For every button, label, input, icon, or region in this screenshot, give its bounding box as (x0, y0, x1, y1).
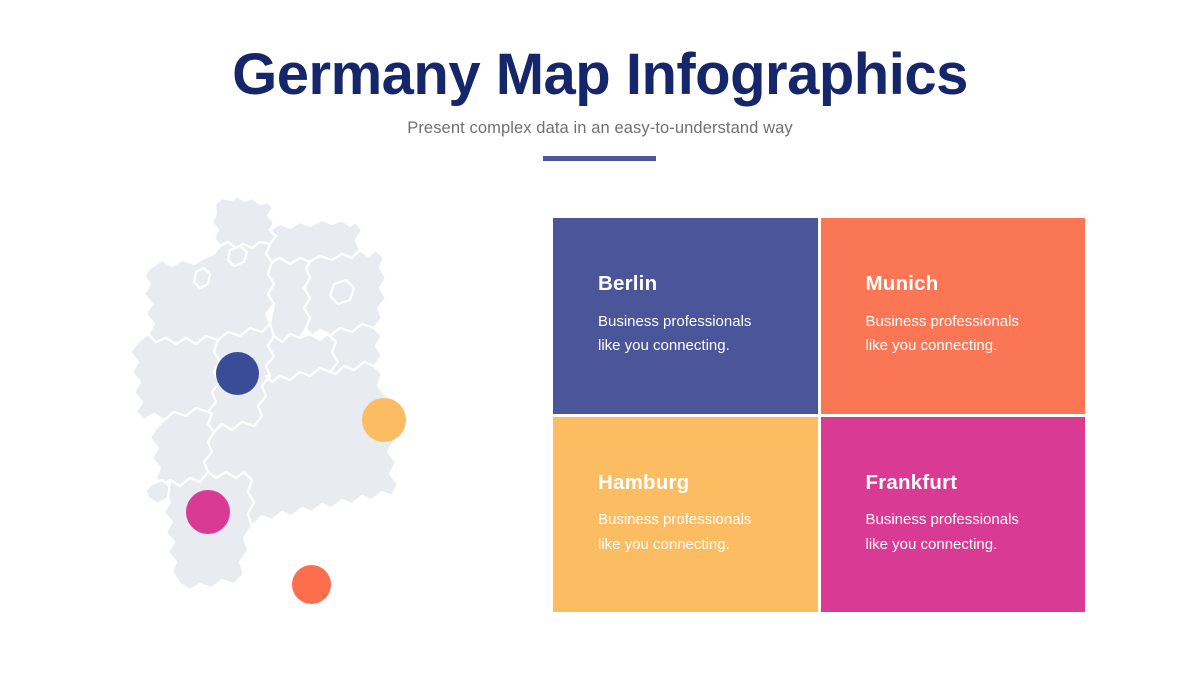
state-hamburg (228, 246, 247, 266)
title-divider (543, 156, 656, 161)
state-saarland (146, 480, 170, 504)
map-marker-frankfurt[interactable] (292, 565, 331, 604)
map-marker-munich[interactable] (362, 398, 406, 442)
state-sachsen-anhalt (268, 258, 310, 342)
city-card-title: Munich (866, 273, 1056, 296)
page-subtitle: Present complex data in an easy-to-under… (0, 119, 1200, 138)
city-card-body: Business professionals like you connecti… (598, 508, 758, 557)
city-card-title: Berlin (598, 273, 788, 296)
city-card-hamburg[interactable]: Hamburg Business professionals like you … (553, 417, 818, 613)
germany-map (110, 190, 440, 630)
state-bremen (194, 268, 210, 288)
city-card-title: Frankfurt (866, 472, 1056, 495)
city-card-body: Business professionals like you connecti… (598, 310, 758, 359)
city-card-body: Business professionals like you connecti… (866, 310, 1026, 359)
city-card-grid: Berlin Business professionals like you c… (553, 218, 1085, 612)
city-card-munich[interactable]: Munich Business professionals like you c… (821, 218, 1086, 414)
state-schleswig-holstein (212, 196, 276, 248)
slide-canvas: Germany Map Infographics Present complex… (0, 0, 1200, 675)
state-berlin (330, 280, 354, 304)
state-rheinland-pfalz (150, 408, 214, 486)
map-marker-hamburg[interactable] (186, 490, 230, 534)
state-nordrhein-westfalen (130, 334, 220, 420)
map-marker-berlin[interactable] (216, 352, 259, 395)
page-title: Germany Map Infographics (0, 44, 1200, 105)
city-card-body: Business professionals like you connecti… (866, 508, 1026, 557)
city-card-frankfurt[interactable]: Frankfurt Business professionals like yo… (821, 417, 1086, 613)
city-card-berlin[interactable]: Berlin Business professionals like you c… (553, 218, 818, 414)
city-card-title: Hamburg (598, 472, 788, 495)
header: Germany Map Infographics Present complex… (0, 44, 1200, 138)
